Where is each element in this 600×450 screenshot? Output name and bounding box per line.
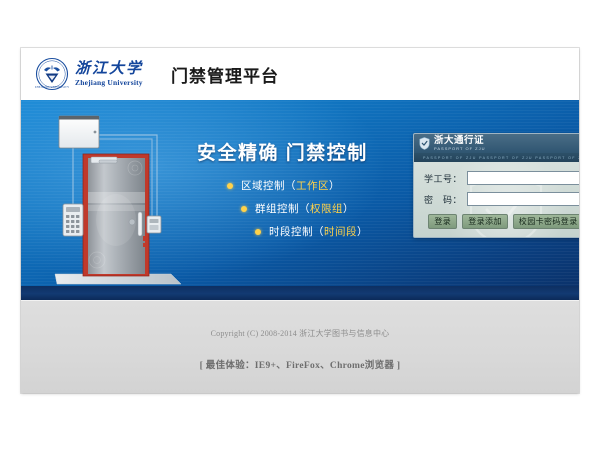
login-panel-ticker-text: PASSPORT OF ZJU PASSPORT OF ZJU PASSPORT… xyxy=(414,156,579,160)
promo-feature-accent: 时间段 xyxy=(324,224,357,239)
username-label: 学工号： xyxy=(423,172,467,185)
university-logo[interactable]: ZHEJIANG UNIVERSITY 浙江大学 Zhejiang Univer… xyxy=(35,57,143,91)
username-row: 学工号： xyxy=(423,171,579,185)
svg-text:ZHEJIANG UNIVERSITY: ZHEJIANG UNIVERSITY xyxy=(35,86,69,89)
bullet-dot-icon xyxy=(227,183,233,189)
campus-card-login-button[interactable]: 校园卡密码登录 xyxy=(513,214,579,229)
promo-headline: 安全精确 门禁控制 xyxy=(197,138,368,165)
login-panel-titlebar: 浙大通行证 PASSPORT OF ZJU xyxy=(414,134,579,153)
shield-icon xyxy=(419,137,430,150)
promo-feature-list: 区域控制（ 工作区 ） 群组控制（ 权限组 ） 时段控制（ 时间段 ） xyxy=(197,178,368,239)
password-row: 密 码： xyxy=(423,192,579,206)
footer-copyright: Copyright (C) 2008-2014 浙江大学图书与信息中心 xyxy=(21,301,579,339)
hero-banner: 安全精确 门禁控制 区域控制（ 工作区 ） 群组控制（ 权限组 ） 时段控制（ xyxy=(21,100,579,300)
login-button-group: 登录 登录添加 校园卡密码登录 xyxy=(423,214,579,229)
login-panel-title-en: PASSPORT OF ZJU xyxy=(434,147,485,151)
banner-bottom-strip xyxy=(21,286,579,300)
site-footer: Copyright (C) 2008-2014 浙江大学图书与信息中心 [ 最佳… xyxy=(21,300,579,393)
password-label: 密 码： xyxy=(423,193,467,206)
promo-feature-label: 群组控制（ xyxy=(255,201,310,216)
login-panel-title-cn: 浙大通行证 xyxy=(434,136,485,146)
logo-text-cn: 浙江大学 xyxy=(75,62,143,77)
access-control-door-illustration-icon xyxy=(39,108,199,298)
login-panel-ticker: PASSPORT OF ZJU PASSPORT OF ZJU PASSPORT… xyxy=(414,153,579,162)
login-button[interactable]: 登录 xyxy=(428,214,457,229)
promo-feature-label: 时段控制（ xyxy=(269,224,324,239)
page-title: 门禁管理平台 xyxy=(171,62,279,87)
login-add-button[interactable]: 登录添加 xyxy=(462,214,508,229)
footer-browser-support: [ 最佳体验：IE9+、FireFox、Chrome浏览器 ] xyxy=(21,339,579,371)
logo-wordmark: 浙江大学 Zhejiang University xyxy=(75,62,143,87)
password-input[interactable] xyxy=(467,192,579,206)
promo-feature-item: 区域控制（ 工作区 ） xyxy=(227,178,368,193)
page-container: ZHEJIANG UNIVERSITY 浙江大学 Zhejiang Univer… xyxy=(21,48,579,393)
promo-feature-item: 群组控制（ 权限组 ） xyxy=(241,201,368,216)
promo-feature-tail: ） xyxy=(329,178,340,193)
username-input[interactable] xyxy=(467,171,579,185)
logo-text-en: Zhejiang University xyxy=(75,79,143,87)
promo-feature-accent: 权限组 xyxy=(310,201,343,216)
login-panel: 浙大通行证 PASSPORT OF ZJU PASSPORT OF ZJU PA… xyxy=(413,133,579,238)
bullet-dot-icon xyxy=(255,229,261,235)
promo-feature-tail: ） xyxy=(357,224,368,239)
promo-feature-accent: 工作区 xyxy=(296,178,329,193)
login-panel-title-text: 浙大通行证 PASSPORT OF ZJU xyxy=(434,136,485,151)
promo-feature-tail: ） xyxy=(343,201,354,216)
bullet-dot-icon xyxy=(241,206,247,212)
promo-feature-label: 区域控制（ xyxy=(241,178,296,193)
site-header: ZHEJIANG UNIVERSITY 浙江大学 Zhejiang Univer… xyxy=(21,48,579,100)
zhejiang-university-emblem-icon: ZHEJIANG UNIVERSITY xyxy=(35,57,69,91)
login-form: 学工号： 密 码： 登录 登录添加 校园卡密码登录 xyxy=(414,162,579,237)
promo-block: 安全精确 门禁控制 区域控制（ 工作区 ） 群组控制（ 权限组 ） 时段控制（ xyxy=(197,138,368,255)
promo-feature-item: 时段控制（ 时间段 ） xyxy=(255,224,368,239)
